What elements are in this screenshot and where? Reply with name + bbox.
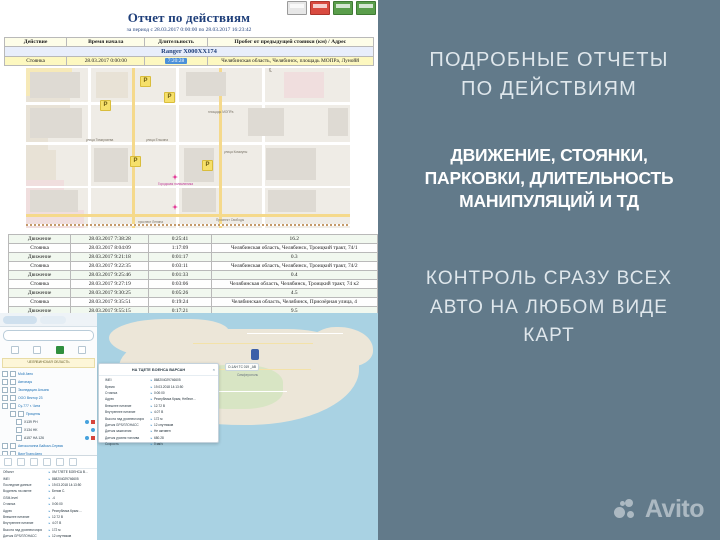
table-row[interactable]: Стоянка 28.03.2017 8:04:09 1:17:09 Челяб… <box>9 244 378 253</box>
checkbox-icon[interactable] <box>18 411 24 417</box>
avito-wordmark: Avito <box>645 495 704 524</box>
cell-action: Стоянка <box>9 280 71 289</box>
parking-marker[interactable]: P <box>164 92 175 103</box>
checkbox-icon[interactable] <box>10 403 16 409</box>
popup-header: НА ТЦЕТЕ БОЕНСА ВАРСАН × <box>99 364 218 376</box>
chart-icon[interactable] <box>43 458 51 466</box>
cell-action: Стоянка <box>5 57 67 66</box>
cell-duration: 0:01:33 <box>149 271 211 280</box>
tree-item[interactable]: Су-777 г. Чита <box>2 402 95 410</box>
cell-duration: 0:05:26 <box>149 289 211 298</box>
cell-action: Движение <box>9 253 71 262</box>
detail-rows-body: Движение 28.03.2017 7:38:28 0:25:41 16.2… <box>9 235 378 314</box>
checkbox-icon[interactable] <box>10 395 16 401</box>
vehicle-name: Ranger X000XX174 <box>5 47 374 57</box>
report-icon[interactable] <box>56 458 64 466</box>
property-value: 4.07 В <box>52 521 94 525</box>
popup-value: 12.72 В <box>154 404 212 408</box>
table-row[interactable]: Движение 28.03.2017 9:21:18 0:01:17 0.3 <box>9 253 378 262</box>
property-value: Республика Крым ... <box>52 509 94 513</box>
property-key: Высота над уровнем моря <box>3 528 47 532</box>
cell-action: Движение <box>9 289 71 298</box>
tree-item-label: X139 PH <box>24 420 38 424</box>
cell-start: 28.03.2017 9:27:19 <box>71 280 149 289</box>
status-dot-icon <box>91 428 95 432</box>
street-label: улица Коммуны <box>224 150 247 154</box>
export-excel-button[interactable] <box>333 1 353 15</box>
checkbox-icon[interactable] <box>16 427 22 433</box>
parking-marker[interactable]: P <box>130 156 141 167</box>
popup-value: Республика Крым, Небесн... <box>154 397 212 401</box>
filter-online-icon[interactable] <box>56 346 64 354</box>
popup-value: Не активен <box>154 429 212 433</box>
tree-item[interactable]: Прицепы <box>2 410 95 418</box>
promo-heading-top-line2: ПО ДЕЙСТВИЯМ <box>389 75 709 104</box>
parking-marker[interactable]: P <box>100 100 111 111</box>
popup-value: 0 км/ч <box>154 442 212 446</box>
cell-info: Челябинская область, Челябинск, Приозёрн… <box>211 298 377 307</box>
property-key: Датчик GPS/ГЛОНАСС <box>3 534 47 538</box>
popup-key: Стоянка <box>105 391 149 395</box>
tree-item-label: A157 HA 126 <box>24 436 44 440</box>
cell-start: 28.03.2017 9:35:51 <box>71 298 149 307</box>
tree-item-label: X134 HK <box>24 428 38 432</box>
cell-info: Челябинская область, Челябинск, Троицкий… <box>211 244 377 253</box>
promo-bold-block: ДВИЖЕНИЕ, СТОЯНКИ, ПАРКОВКИ, ДЛИТЕЛЬНОСТ… <box>384 144 714 213</box>
expander-icon[interactable] <box>2 443 8 449</box>
tree-item-label: Автопарк <box>18 380 32 384</box>
vehicle-info-popup[interactable]: НА ТЦЕТЕ БОЕНСА ВАРСАН × IMEI▸8682040297… <box>98 363 219 443</box>
table-row[interactable]: Стоянка 28.03.2017 9:27:19 0:03:06 Челяб… <box>9 280 378 289</box>
cell-address: Челябинская область, Челябинск, площадь … <box>207 57 373 66</box>
edit-icon[interactable] <box>4 458 12 466</box>
table-row[interactable]: Стоянка 28.03.2017 9:35:51 0:19:24 Челяб… <box>9 298 378 307</box>
promo-bold-line2: ПАРКОВКИ, ДЛИТЕЛЬНОСТЬ <box>384 167 714 190</box>
cell-info: Челябинская область, Челябинск, Троицкий… <box>211 280 377 289</box>
property-key: Внешнее питание <box>3 515 47 519</box>
tree-item-label: Автоколонна Байкал-Сервис <box>18 444 63 448</box>
popup-key: Время <box>105 385 149 389</box>
settings-icon[interactable] <box>30 458 38 466</box>
app-sidebar: ЧЕЛЯБИНСКАЯ ОБЛАСТЬ Мой Авто Автопарк Эк… <box>0 313 98 540</box>
activity-report-window: Отчет по действиям за период с 28.03.201… <box>0 0 378 313</box>
table-header-row: Действие Время начала Длительность Пробе… <box>5 38 374 47</box>
checkbox-icon[interactable] <box>10 387 16 393</box>
property-value: 172 м <box>52 528 94 532</box>
property-key: Адрес <box>3 509 47 513</box>
checkbox-icon[interactable] <box>16 419 22 425</box>
cell-duration: 0:03:06 <box>149 280 211 289</box>
popup-value: 172 м <box>154 417 212 421</box>
cell-duration: 7:20:28 <box>145 57 207 66</box>
avito-logo-icon <box>614 499 640 521</box>
tree-item[interactable]: X134 HK <box>2 426 95 434</box>
cell-info: 4.5 <box>211 289 377 298</box>
street-label: улица Тимирязева <box>86 138 113 142</box>
popup-key: Внешнее питание <box>105 404 149 408</box>
column-header-duration: Длительность <box>145 38 207 47</box>
property-value: 19.03.2018 14:13:50 <box>52 483 94 487</box>
print-button[interactable] <box>287 1 307 15</box>
report-export-toolbar[interactable] <box>287 1 376 15</box>
street-label: улица Елькина <box>146 138 168 142</box>
column-header-start: Время начала <box>67 38 145 47</box>
report-subtitle: за период с 28.03.2017 0:00:00 по 28.03.… <box>0 26 378 33</box>
cell-action: Движение <box>9 271 71 280</box>
table-row[interactable]: Движение 28.03.2017 9:25:46 0:01:33 0.4 <box>9 271 378 280</box>
filter-group-icon[interactable] <box>33 346 41 354</box>
cell-action: Стоянка <box>9 262 71 271</box>
cell-start: 28.03.2017 7:38:28 <box>71 235 149 244</box>
property-key: Стоянка <box>3 502 47 506</box>
close-icon[interactable]: × <box>213 367 215 372</box>
tree-item[interactable]: A157 HA 126 <box>2 434 95 442</box>
tree-item[interactable]: X139 PH <box>2 418 95 426</box>
property-value: 868204029746605 <box>52 477 94 481</box>
checkbox-icon[interactable] <box>10 443 16 449</box>
tab-objects[interactable] <box>3 316 37 324</box>
status-dot-icon <box>85 436 89 440</box>
sidebar-filter-row[interactable] <box>0 344 97 357</box>
filter-all-icon[interactable] <box>11 346 19 354</box>
map-road <box>193 343 313 344</box>
promo-heading-bottom-line2: АВТО НА ЛЮБОМ ВИДЕ <box>389 294 709 323</box>
popup-value: 12 спутников <box>154 423 212 427</box>
popup-row: Скорость▸0 км/ч <box>102 441 215 447</box>
popup-value: 4.07 В <box>154 410 212 414</box>
cell-info: 0.4 <box>211 271 377 280</box>
property-key: GSM-level <box>3 496 47 500</box>
property-value: 0:00:00 <box>52 502 94 506</box>
promo-panel: ПОДРОБНЫЕ ОТЧЕТЫ ПО ДЕЙСТВИЯМ ДВИЖЕНИЕ, … <box>378 0 720 540</box>
cell-start: 28.03.2017 0:00:00 <box>67 57 145 66</box>
table-row[interactable]: Стоянка 28.03.2017 9:22:35 0:03:11 Челяб… <box>9 262 378 271</box>
cell-info: Челябинская область, Челябинск, Троицкий… <box>211 262 377 271</box>
tree-item[interactable]: ООО Вектор 23 <box>2 394 95 402</box>
cell-info: 16.2 <box>211 235 377 244</box>
popup-value: 0:00:00 <box>154 391 212 395</box>
status-dot-icon <box>85 420 89 424</box>
expander-icon[interactable] <box>2 379 8 385</box>
promo-heading-top-line1: ПОДРОБНЫЕ ОТЧЕТЫ <box>389 46 709 75</box>
cell-duration: 1:17:09 <box>149 244 211 253</box>
popup-key: Датчик GPS/ГЛОНАСС <box>105 423 149 427</box>
tracking-app-window: ЧЕЛЯБИНСКАЯ ОБЛАСТЬ Мой Авто Автопарк Эк… <box>0 313 378 540</box>
export-pdf-button[interactable] <box>310 1 330 15</box>
popup-key: Адрес <box>105 397 149 401</box>
popup-title: НА ТЦЕТЕ БОЕНСА ВАРСАН <box>132 368 185 372</box>
cell-start: 28.03.2017 9:30:25 <box>71 289 149 298</box>
popup-key: Датчик уровня топлива <box>105 436 149 440</box>
sidebar-tabs[interactable] <box>0 313 97 327</box>
street-label: улица Свободы <box>268 68 272 72</box>
tree-item[interactable]: Автопарк <box>2 378 95 386</box>
tree-item[interactable]: Мой Авто <box>2 370 95 378</box>
duration-badge: 7:20:28 <box>165 58 187 64</box>
checkbox-icon[interactable] <box>10 379 16 385</box>
parking-marker[interactable]: P <box>140 76 151 87</box>
property-key: Объект <box>3 470 47 474</box>
vehicle-group-row: Ranger X000XX174 <box>5 47 374 57</box>
vehicle-marker[interactable] <box>251 349 259 360</box>
search-input[interactable] <box>3 330 94 341</box>
promo-bold-line1: ДВИЖЕНИЕ, СТОЯНКИ, <box>384 144 714 167</box>
popup-key: Внутреннее питание <box>105 410 149 414</box>
cell-start: 28.03.2017 9:25:46 <box>71 271 149 280</box>
report-embedded-map[interactable]: P P P P P Городская поликлиника площадь … <box>26 68 350 228</box>
checkbox-icon[interactable] <box>10 371 16 377</box>
table-row[interactable]: Движение 28.03.2017 9:30:25 0:05:26 4.5 <box>9 289 378 298</box>
screenshot-collage: Отчет по действиям за период с 28.03.201… <box>0 0 378 540</box>
property-value: ХМ ТЛЕТЕ БОЕНСА В... <box>52 470 94 474</box>
more-icon[interactable] <box>69 458 77 466</box>
property-key: IMEI <box>3 477 47 481</box>
popup-key: Скорость <box>105 442 149 446</box>
popup-body: IMEI▸868204029746605 Время▸19.03.2018 14… <box>99 376 218 448</box>
street-label: Проспект Свободы <box>216 218 244 222</box>
property-key: Внутреннее питание <box>3 521 47 525</box>
property-key: Последние данные <box>3 483 47 487</box>
checkbox-icon[interactable] <box>16 435 22 441</box>
property-key: Водитель на смене <box>3 489 47 493</box>
export-csv-button[interactable] <box>356 1 376 15</box>
column-header-action: Действие <box>5 38 67 47</box>
tree-item-label: Су-777 г. Чита <box>18 404 40 408</box>
tree-item-label: Мой Авто <box>18 372 33 376</box>
fleet-map[interactable]: О-1АН ТС 019 _АВ Симферополь Андрей 9191… <box>97 313 378 540</box>
tree-item-label: Прицепы <box>26 412 40 416</box>
table-row[interactable]: Стоянка 28.03.2017 0:00:00 7:20:28 Челяб… <box>5 57 374 66</box>
tab-geozones[interactable] <box>40 316 66 324</box>
history-icon[interactable] <box>17 458 25 466</box>
column-header-distance: Пробег от предыдущей стоянки (км) / Адре… <box>207 38 373 47</box>
city-label: Симферополь <box>237 373 258 377</box>
map-road <box>247 333 343 334</box>
promo-heading-bottom-line1: КОНТРОЛЬ СРАЗУ ВСЕХ <box>389 265 709 294</box>
report-table: Действие Время начала Длительность Пробе… <box>4 37 374 66</box>
object-properties-panel: Объект▸ХМ ТЛЕТЕ БОЕНСА В... IMEI▸8682040… <box>0 455 97 540</box>
promo-heading-bottom: КОНТРОЛЬ СРАЗУ ВСЕХ АВТО НА ЛЮБОМ ВИДЕ К… <box>389 265 709 351</box>
popup-key: Высота над уровнем моря <box>105 417 149 421</box>
tree-item-label: Экспедиция Альянс <box>18 388 49 392</box>
expander-icon[interactable] <box>10 411 16 417</box>
group-header: ЧЕЛЯБИНСКАЯ ОБЛАСТЬ <box>2 358 95 368</box>
promo-heading-bottom-line3: КАРТ <box>389 322 709 351</box>
popup-value: 19.03.2018 14:13:50 <box>154 385 212 389</box>
tree-item[interactable]: Автоколонна Байкал-Сервис <box>2 442 95 450</box>
cell-action: Стоянка <box>9 244 71 253</box>
property-value: 12.72 В <box>52 515 94 519</box>
filter-offline-icon[interactable] <box>78 346 86 354</box>
promo-image-canvas: Отчет по действиям за период с 28.03.201… <box>0 0 720 540</box>
property-value: Белов С. <box>52 489 94 493</box>
promo-heading-top: ПОДРОБНЫЕ ОТЧЕТЫ ПО ДЕЙСТВИЯМ <box>389 46 709 104</box>
expander-icon[interactable] <box>2 395 8 401</box>
parking-marker[interactable]: P <box>202 160 213 171</box>
cell-start: 28.03.2017 8:04:09 <box>71 244 149 253</box>
cell-action: Стоянка <box>9 298 71 307</box>
cell-info: 0.3 <box>211 253 377 262</box>
vehicle-label[interactable]: О-1АН ТС 019 _АВ <box>225 363 259 371</box>
expander-icon[interactable] <box>2 403 8 409</box>
popup-value: 680.28 <box>154 436 212 440</box>
alert-dot-icon <box>91 436 95 440</box>
cell-duration: 0:01:17 <box>149 253 211 262</box>
promo-bold-line3: МАНИПУЛЯЦИЙ И ТД <box>384 190 714 213</box>
property-value: -4 <box>52 496 94 500</box>
popup-key: Датчик зажигания <box>105 429 149 433</box>
property-value: 12 спутников <box>52 534 94 538</box>
expander-icon[interactable] <box>2 387 8 393</box>
popup-value: 868204029746605 <box>154 378 212 382</box>
cell-start: 28.03.2017 9:21:18 <box>71 253 149 262</box>
tree-item[interactable]: Экспедиция Альянс <box>2 386 95 394</box>
properties-toolbar[interactable] <box>0 456 97 469</box>
report-table-detail: Движение 28.03.2017 7:38:28 0:25:41 16.2… <box>8 234 378 313</box>
cell-action: Движение <box>9 235 71 244</box>
alert-dot-icon <box>91 420 95 424</box>
avito-watermark: Avito <box>614 495 704 524</box>
expander-icon[interactable] <box>2 371 8 377</box>
poi-label: Городская поликлиника <box>158 182 193 186</box>
table-row[interactable]: Движение 28.03.2017 7:38:28 0:25:41 16.2 <box>9 235 378 244</box>
cell-duration: 0:03:11 <box>149 262 211 271</box>
tree-item-label: ООО Вектор 23 <box>18 396 43 400</box>
street-label: площадь МОПРа <box>208 110 233 114</box>
cell-start: 28.03.2017 9:22:35 <box>71 262 149 271</box>
cell-duration: 0:19:24 <box>149 298 211 307</box>
cell-duration: 0:25:41 <box>149 235 211 244</box>
popup-key: IMEI <box>105 378 149 382</box>
